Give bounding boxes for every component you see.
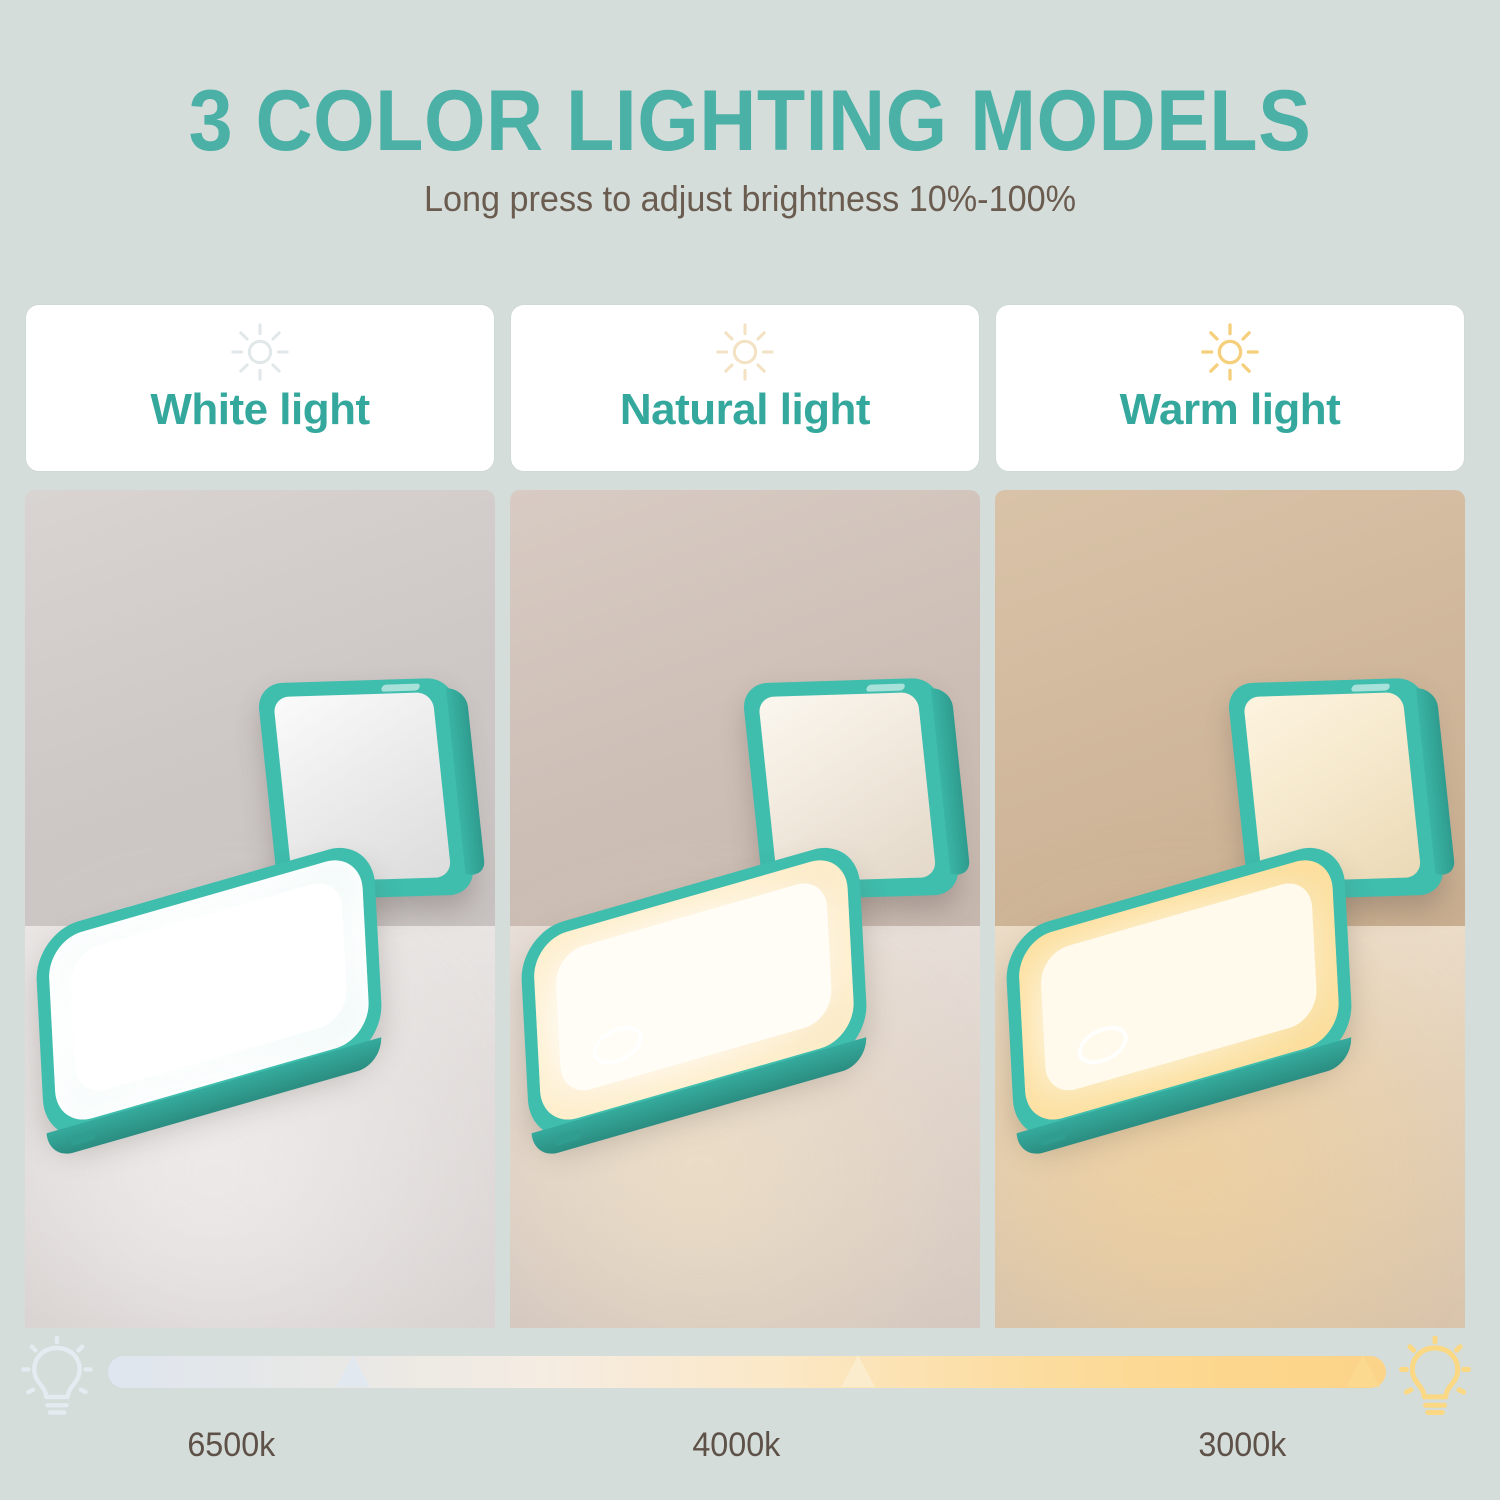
mirror-glass	[273, 692, 452, 882]
sun-icon	[1199, 321, 1261, 383]
temperature-gradient-bar[interactable]	[108, 1356, 1386, 1388]
color-temperature-scale: 6500k 4000k 3000k	[0, 1330, 1500, 1500]
tick-label-6500k: 6500k	[187, 1426, 275, 1465]
mode-card-label: Warm light	[1120, 385, 1341, 435]
lightbulb-icon	[1396, 1336, 1474, 1422]
mode-card-white-light[interactable]: White light	[25, 304, 495, 472]
page-subtitle: Long press to adjust brightness 10%-100%	[38, 178, 1463, 220]
product-photo-warm-light	[995, 490, 1465, 1328]
mode-card-row: White light Natural light	[25, 304, 1475, 472]
temperature-marker-3000k	[1346, 1355, 1380, 1387]
product-photo-natural-light	[510, 490, 980, 1328]
mirror-glass	[1243, 692, 1422, 882]
mirror-glass	[758, 692, 937, 882]
product-photo-white-light	[25, 490, 495, 1328]
sun-icon	[229, 321, 291, 383]
mode-card-natural-light[interactable]: Natural light	[510, 304, 980, 472]
led-light-panel	[519, 837, 869, 1147]
led-light-panel	[34, 837, 384, 1147]
mode-card-warm-light[interactable]: Warm light	[995, 304, 1465, 472]
lid-notch	[866, 684, 906, 692]
compact-led-mirror	[25, 490, 495, 1328]
tick-label-4000k: 4000k	[692, 1426, 780, 1465]
led-light-panel	[1004, 837, 1354, 1147]
temperature-marker-4000k	[841, 1355, 875, 1387]
temperature-tick-labels: 6500k 4000k 3000k	[0, 1426, 1500, 1476]
tick-label-3000k: 3000k	[1198, 1426, 1286, 1465]
product-photo-row	[25, 490, 1475, 1328]
temperature-marker-6500k	[336, 1355, 370, 1387]
lightbulb-icon	[18, 1336, 96, 1422]
lid-notch	[381, 684, 421, 692]
infographic-page: 3 COLOR LIGHTING MODELS Long press to ad…	[0, 0, 1500, 1500]
lid-notch	[1351, 684, 1391, 692]
compact-led-mirror	[995, 490, 1465, 1328]
mode-card-label: Natural light	[620, 385, 870, 435]
sun-icon	[714, 321, 776, 383]
compact-led-mirror	[510, 490, 980, 1328]
mode-card-label: White light	[150, 385, 369, 435]
page-title: 3 COLOR LIGHTING MODELS	[60, 72, 1440, 171]
